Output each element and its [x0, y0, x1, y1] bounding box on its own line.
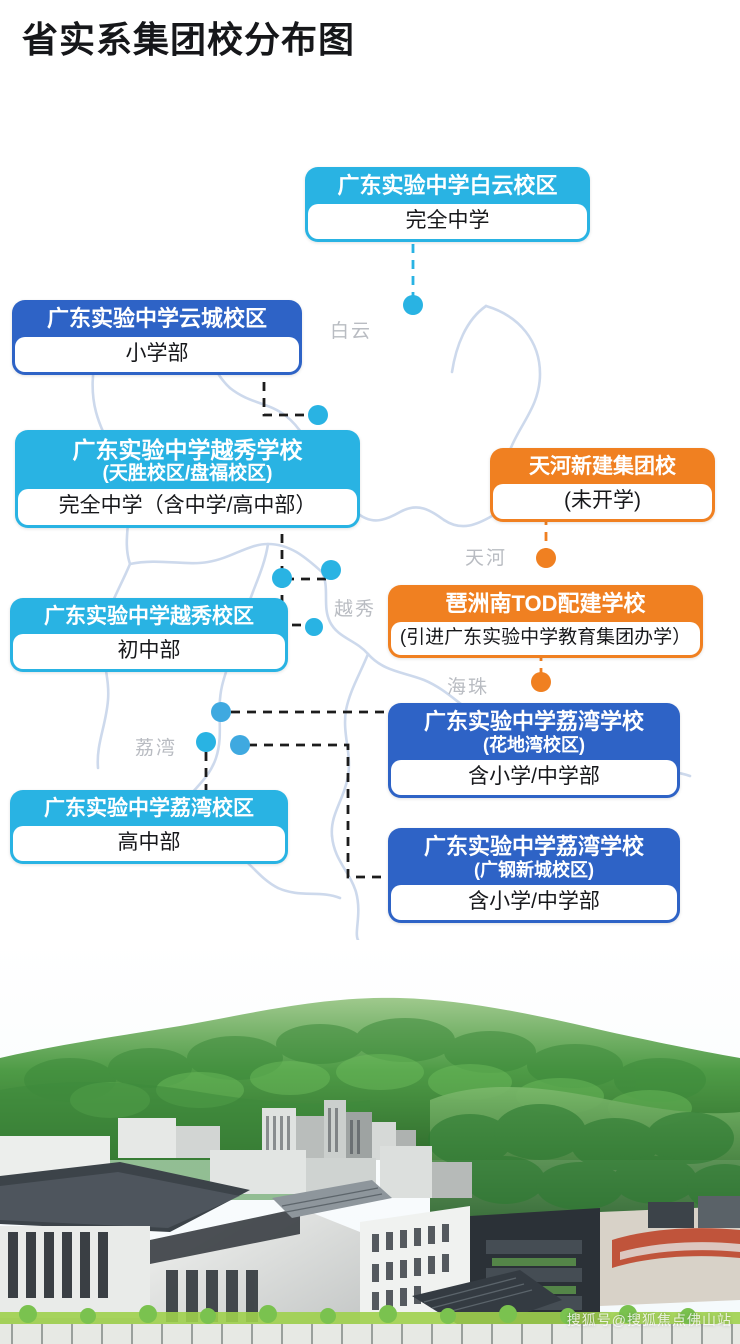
school-card-title: 广东实验中学云城校区	[15, 303, 299, 337]
district-label-yuexiu: 越秀	[334, 594, 376, 621]
district-label-liwan: 荔湾	[135, 733, 177, 760]
school-card-title: 广东实验中学荔湾学校 (广钢新城校区)	[391, 831, 677, 885]
map-marker-tianhe[interactable]	[536, 548, 556, 568]
school-card-liwan-huadiwan[interactable]: 广东实验中学荔湾学校 (花地湾校区) 含小学/中学部	[388, 703, 680, 798]
campus-aerial-photo: 搜狐号@搜狐焦点佛山站	[0, 940, 740, 1344]
school-card-subtitle: (天胜校区/盘福校区)	[28, 463, 347, 484]
infographic-page: 省实系集团校分布图	[0, 0, 740, 1344]
map-marker-yuexiu-c[interactable]	[305, 618, 323, 636]
school-card-yuncheng[interactable]: 广东实验中学云城校区 小学部	[12, 300, 302, 375]
school-card-title: 广东实验中学荔湾学校 (花地湾校区)	[391, 706, 677, 760]
map-marker-liwan-campus[interactable]	[196, 732, 216, 752]
school-card-body: 含小学/中学部	[391, 760, 677, 795]
school-card-body: 完全中学（含中学/高中部）	[18, 489, 357, 524]
school-card-body: (未开学)	[493, 484, 712, 519]
school-card-title: 广东实验中学越秀校区	[13, 601, 285, 634]
school-card-baiyun[interactable]: 广东实验中学白云校区 完全中学	[305, 167, 590, 242]
map-marker-liwan-hua[interactable]	[211, 702, 231, 722]
school-card-yuexiu-campus[interactable]: 广东实验中学越秀校区 初中部	[10, 598, 288, 672]
photo-watermark: 搜狐号@搜狐焦点佛山站	[567, 1310, 732, 1330]
district-label-haizhu: 海珠	[447, 672, 489, 699]
school-card-tianhe[interactable]: 天河新建集团校 (未开学)	[490, 448, 715, 522]
school-card-subtitle: (花地湾校区)	[401, 735, 667, 755]
school-card-body: 小学部	[15, 337, 299, 372]
map-marker-liwan-gang[interactable]	[230, 735, 250, 755]
school-card-title: 广东实验中学白云校区	[308, 170, 587, 204]
school-card-title: 广东实验中学荔湾校区	[13, 793, 285, 826]
map-marker-yuexiu-b[interactable]	[321, 560, 341, 580]
school-card-body: 高中部	[13, 826, 285, 861]
school-card-body: 初中部	[13, 634, 285, 669]
school-card-liwan-gangxincheng[interactable]: 广东实验中学荔湾学校 (广钢新城校区) 含小学/中学部	[388, 828, 680, 923]
school-card-title: 琶洲南TOD配建学校	[391, 588, 700, 622]
campus-photo-illustration	[0, 940, 740, 1344]
district-label-baiyun: 白云	[330, 316, 372, 343]
map-marker-pazhou[interactable]	[531, 672, 551, 692]
school-card-body: 完全中学	[308, 204, 587, 239]
school-card-liwan-campus[interactable]: 广东实验中学荔湾校区 高中部	[10, 790, 288, 864]
school-card-title: 广东实验中学越秀学校 (天胜校区/盘福校区)	[18, 433, 357, 489]
school-card-body: (引进广东实验中学教育集团办学）	[391, 622, 700, 655]
school-card-title: 天河新建集团校	[493, 451, 712, 484]
school-card-pazhou[interactable]: 琶洲南TOD配建学校 (引进广东实验中学教育集团办学）	[388, 585, 703, 658]
page-title: 省实系集团校分布图	[22, 20, 355, 60]
school-card-subtitle: (广钢新城校区)	[401, 860, 667, 880]
map-marker-baiyun[interactable]	[403, 295, 423, 315]
district-label-tianhe: 天河	[465, 543, 507, 570]
school-card-yuexiu-school[interactable]: 广东实验中学越秀学校 (天胜校区/盘福校区) 完全中学（含中学/高中部）	[15, 430, 360, 528]
school-card-body: 含小学/中学部	[391, 885, 677, 920]
map-marker-yuexiu-a[interactable]	[272, 568, 292, 588]
map-marker-yuncheng[interactable]	[308, 405, 328, 425]
